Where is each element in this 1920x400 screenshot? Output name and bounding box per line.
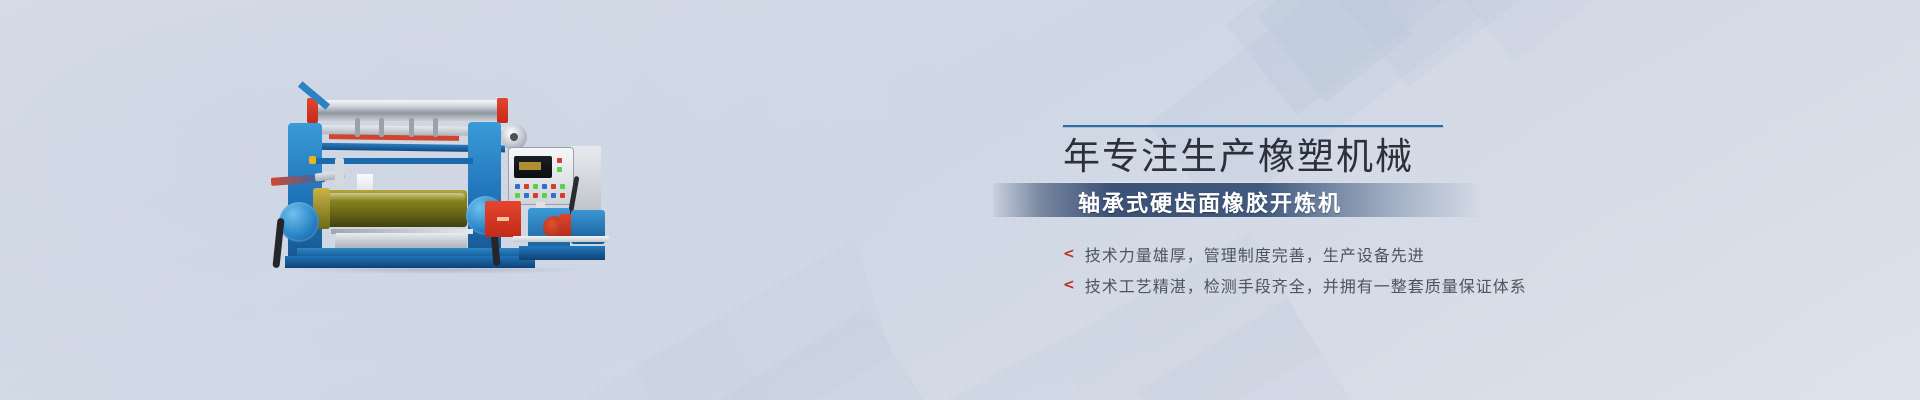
- product-image-rubber-mixing-mill: [283, 98, 603, 263]
- machine-rod: [335, 158, 344, 186]
- control-panel-button: [524, 184, 529, 189]
- machine-yellow-marker: [309, 156, 316, 164]
- page-title: 年专注生产橡塑机械: [1063, 136, 1683, 178]
- machine-platform: [513, 236, 609, 242]
- machine-roll-highlight: [327, 193, 465, 201]
- list-item: < 技术工艺精湛，检测手段齐全，并拥有一整套质量保证体系: [1063, 269, 1527, 300]
- chevron-left-icon: <: [1063, 246, 1076, 262]
- machine-flywheel-hub: [510, 133, 518, 141]
- machine-hook: [379, 118, 384, 137]
- heading-rule: [1063, 125, 1443, 127]
- list-item-label: 技术工艺精湛，检测手段齐全，并拥有一整套质量保证体系: [1085, 273, 1527, 297]
- feature-list: < 技术力量雄厚，管理制度完善，生产设备先进 < 技术工艺精湛，检测手段齐全，并…: [1063, 238, 1527, 300]
- control-panel-button: [524, 193, 529, 198]
- machine-nameplate: [497, 217, 509, 221]
- control-panel-button: [533, 193, 538, 198]
- chevron-left-icon: <: [1063, 277, 1076, 293]
- control-panel-button: [560, 184, 565, 189]
- machine-base-right: [519, 246, 605, 260]
- control-panel-button: [515, 184, 520, 189]
- machine-upper-roll: [313, 100, 501, 121]
- list-item: < 技术力量雄厚，管理制度完善，生产设备先进: [1063, 238, 1527, 269]
- machine-hook: [409, 118, 414, 137]
- control-panel-button: [560, 193, 565, 198]
- control-panel-indicator-light: [557, 158, 562, 163]
- machine-hook: [433, 118, 438, 137]
- hero-banner: 年专注生产橡塑机械 轴承式硬齿面橡胶开炼机 < 技术力量雄厚，管理制度完善，生产…: [0, 0, 1920, 400]
- list-item-label: 技术力量雄厚，管理制度完善，生产设备先进: [1085, 242, 1425, 266]
- product-subtitle: 轴承式硬齿面橡胶开炼机: [1078, 186, 1342, 218]
- machine-roll-end-cap: [497, 98, 508, 123]
- control-panel-indicator-light: [557, 167, 562, 172]
- control-panel-button: [551, 184, 556, 189]
- control-panel-readout: [519, 162, 541, 170]
- control-panel-button: [515, 193, 520, 198]
- control-panel-button: [533, 184, 538, 189]
- control-panel-button: [551, 193, 556, 198]
- control-panel-button: [542, 184, 547, 189]
- machine-control-panel: [509, 148, 573, 204]
- control-panel-button: [542, 193, 547, 198]
- machine-hook: [355, 118, 360, 137]
- machine-bearing-left: [279, 202, 319, 242]
- machine-red-bar: [329, 134, 459, 141]
